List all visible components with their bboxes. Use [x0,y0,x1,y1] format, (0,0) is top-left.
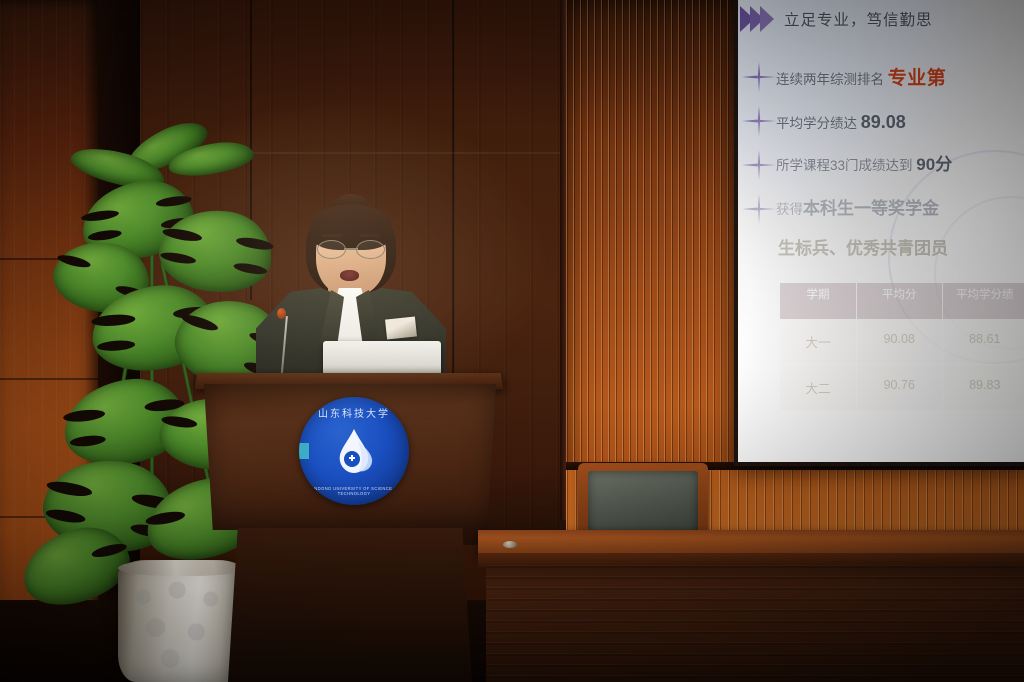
slide-bullet-item: 获得本科生一等奖学金 [742,194,1024,224]
projection-screen: 立足专业，笃信勤思 连续两年综测排名 专业第 平均学分绩达 89.08 所学课程… [738,0,1024,462]
slide-bullet-item: 连续两年综测排名 专业第 [742,62,1024,92]
bullet-highlight: 专业第 [888,68,947,89]
bullet-text-line2: 生标兵、优秀共青团员 [742,234,1024,259]
table-cell: 88.61 [943,319,1024,365]
slide-data-table: 学期 平均分 平均学分绩 大一 90.08 88.61 大二 90.76 89.… [780,283,1024,411]
emblem-university-name-en: SHANDONG UNIVERSITY OF SCIENCE AND TECHN… [299,486,409,496]
mouth [340,270,359,281]
auditorium-photo: 立足专业，笃信勤思 连续两年综测排名 专业第 平均学分绩达 89.08 所学课程… [0,0,1024,682]
table-header-cell: 平均学分绩 [943,283,1024,319]
eyeglasses-icon [316,240,386,258]
pot-rim [118,560,246,576]
slide-bullet-list: 连续两年综测排名 专业第 平均学分绩达 89.08 所学课程33门成绩达到 90… [742,62,1024,259]
bullet-text-plain: 所学课程33门成绩达到 [776,158,916,173]
bullet-text: 平均学分绩达 89.08 [776,106,906,134]
triple-chevron-right-icon [744,6,774,32]
table-header-row: 学期 平均分 平均学分绩 [780,283,1024,319]
slat-panel-edge [560,0,566,520]
bullet-highlight: 89.08 [861,112,906,132]
slide-header: 立足专业，笃信勤思 [744,6,933,32]
bullet-highlight: 90分 [916,155,952,174]
laptop [323,341,441,375]
emblem-university-name-cn: 山东科技大学 [299,405,409,420]
bullet-text-block: 获得本科生一等奖学金 [776,194,939,221]
pocket-square [385,316,417,339]
slatted-acoustic-panel [566,0,746,520]
bullet-text: 获得本科生一等奖学金 [776,194,939,221]
four-point-star-icon [742,150,776,180]
emblem-flame-icon [328,427,380,479]
emblem-inner: 山东科技大学 SHANDONG UNIVERSITY OF SCIENCE AN… [299,397,409,505]
bullet-text-plain: 连续两年综测排名 [776,72,888,87]
emblem-tab [299,443,309,459]
bullet-highlight: 本科生一等奖学金 [803,199,939,218]
slide-bullet-item: 所学课程33门成绩达到 90分 [742,150,1024,180]
slide-title: 立足专业，笃信勤思 [784,8,933,30]
table-header-cell: 学期 [780,283,857,319]
bullet-text: 连续两年综测排名 专业第 [776,62,946,92]
slide-bullet-item: 平均学分绩达 89.08 [742,106,1024,136]
table-cell: 大二 [780,365,857,411]
table-cell: 90.76 [857,365,943,411]
table-cell: 90.08 [857,319,943,365]
bullet-text-plain: 获得 [776,202,803,217]
desk-cable-grommet [503,541,517,548]
eyebrow [360,234,380,237]
university-emblem: 山东科技大学 SHANDONG UNIVERSITY OF SCIENCE AN… [299,397,409,505]
desk-front-panel [486,565,1024,682]
table-row: 大二 90.76 89.83 [780,365,1024,411]
wall-seam [452,0,454,380]
table-header-cell: 平均分 [857,283,943,319]
table-cell: 大一 [780,319,857,365]
bullet-text: 所学课程33门成绩达到 90分 [776,150,952,177]
table-row: 大一 90.08 88.61 [780,319,1024,365]
eyebrow [322,234,342,237]
cream-ceramic-floral-pot [118,560,246,682]
microphone-head [277,308,286,319]
podium-base [228,528,472,682]
four-point-star-icon [742,106,776,136]
bullet-text-plain: 平均学分绩达 [776,116,861,131]
four-point-star-icon [742,194,776,224]
four-point-star-icon [742,62,776,92]
table-cell: 89.83 [943,365,1024,411]
chair-upholstery [588,471,698,535]
